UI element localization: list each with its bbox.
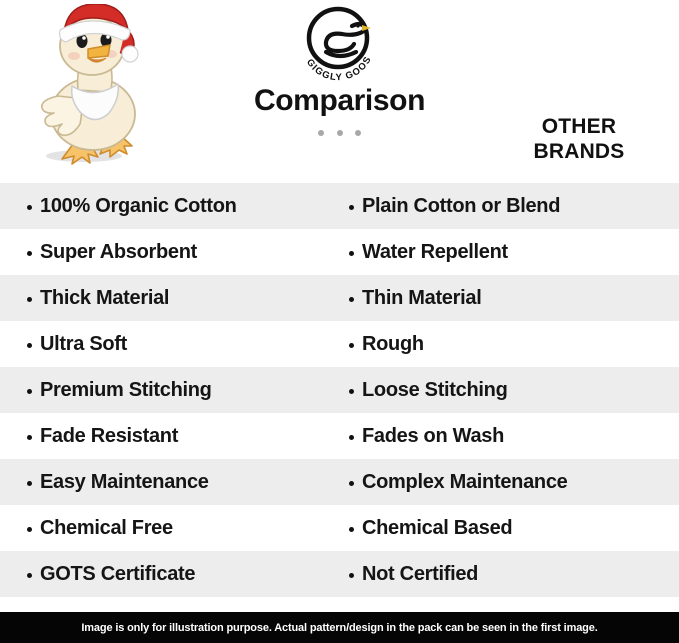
our-brand-feature: 100% Organic Cotton [40, 195, 237, 218]
bullet-icon [27, 435, 32, 440]
table-row: GOTS Certificate Not Certified [0, 551, 679, 597]
our-brand-feature: Chemical Free [40, 517, 173, 540]
other-brand-feature: Fades on Wash [362, 425, 504, 448]
other-brand-cell: Rough [340, 321, 679, 367]
table-row: Premium Stitching Loose Stitching [0, 367, 679, 413]
other-brand-cell: Water Repellent [340, 229, 679, 275]
bullet-icon [349, 481, 354, 486]
svg-text:GIGGLY GOOSE: GIGGLY GOOSE [288, 4, 374, 82]
other-brand-feature: Rough [362, 333, 424, 356]
footer-disclaimer-bar: Image is only for illustration purpose. … [0, 612, 679, 643]
our-brand-feature: Premium Stitching [40, 379, 212, 402]
comparison-table: 100% Organic Cotton Plain Cotton or Blen… [0, 183, 679, 597]
bullet-icon [27, 205, 32, 210]
bullet-icon [349, 435, 354, 440]
other-brand-feature: Thin Material [362, 287, 481, 310]
bullet-icon [27, 297, 32, 302]
our-brand-feature: GOTS Certificate [40, 563, 195, 586]
logo-wordmark: GIGGLY GOOSE [288, 4, 374, 82]
our-brand-cell: Ultra Soft [0, 321, 340, 367]
dot-icon [355, 130, 361, 136]
our-brand-cell: GOTS Certificate [0, 551, 340, 597]
table-row: Fade Resistant Fades on Wash [0, 413, 679, 459]
other-brand-cell: Fades on Wash [340, 413, 679, 459]
our-brand-cell: Chemical Free [0, 505, 340, 551]
our-brand-feature: Fade Resistant [40, 425, 178, 448]
our-brand-feature: Easy Maintenance [40, 471, 209, 494]
table-row: Thick Material Thin Material [0, 275, 679, 321]
bullet-icon [27, 573, 32, 578]
bullet-icon [349, 251, 354, 256]
header: GIGGLY GOOSE Comparison OTHER BRANDS [0, 0, 679, 183]
other-brands-line-1: OTHER [479, 114, 679, 139]
bullet-icon [27, 481, 32, 486]
our-brand-cell: Super Absorbent [0, 229, 340, 275]
footer-disclaimer-text: Image is only for illustration purpose. … [81, 622, 597, 634]
our-brand-feature: Thick Material [40, 287, 169, 310]
bullet-icon [349, 389, 354, 394]
dot-icon [337, 130, 343, 136]
other-brand-cell: Not Certified [340, 551, 679, 597]
other-brand-cell: Plain Cotton or Blend [340, 183, 679, 229]
our-brand-cell: Fade Resistant [0, 413, 340, 459]
giggly-goose-logo-icon: GIGGLY GOOSE [288, 4, 388, 82]
our-brand-cell: Premium Stitching [0, 367, 340, 413]
our-brand-cell: 100% Organic Cotton [0, 183, 340, 229]
other-brands-line-2: BRANDS [479, 139, 679, 164]
bullet-icon [349, 343, 354, 348]
table-row: Easy Maintenance Complex Maintenance [0, 459, 679, 505]
other-brand-feature: Water Repellent [362, 241, 508, 264]
bullet-icon [27, 343, 32, 348]
bullet-icon [27, 527, 32, 532]
other-brand-feature: Loose Stitching [362, 379, 508, 402]
our-brand-feature: Ultra Soft [40, 333, 127, 356]
table-row: Super Absorbent Water Repellent [0, 229, 679, 275]
dot-icon [318, 130, 324, 136]
other-brand-feature: Plain Cotton or Blend [362, 195, 560, 218]
bullet-icon [349, 573, 354, 578]
other-brand-cell: Thin Material [340, 275, 679, 321]
table-row: 100% Organic Cotton Plain Cotton or Blen… [0, 183, 679, 229]
other-brands-heading: OTHER BRANDS [479, 114, 679, 164]
bullet-icon [27, 251, 32, 256]
other-brand-cell: Chemical Based [340, 505, 679, 551]
our-brand-cell: Thick Material [0, 275, 340, 321]
other-brand-feature: Chemical Based [362, 517, 512, 540]
table-row: Ultra Soft Rough [0, 321, 679, 367]
our-brand-feature: Super Absorbent [40, 241, 197, 264]
other-brand-cell: Complex Maintenance [340, 459, 679, 505]
other-brand-feature: Not Certified [362, 563, 478, 586]
bullet-icon [349, 527, 354, 532]
bullet-icon [349, 205, 354, 210]
other-brand-cell: Loose Stitching [340, 367, 679, 413]
other-brand-feature: Complex Maintenance [362, 471, 567, 494]
our-brand-cell: Easy Maintenance [0, 459, 340, 505]
bullet-icon [349, 297, 354, 302]
table-row: Chemical Free Chemical Based [0, 505, 679, 551]
bullet-icon [27, 389, 32, 394]
